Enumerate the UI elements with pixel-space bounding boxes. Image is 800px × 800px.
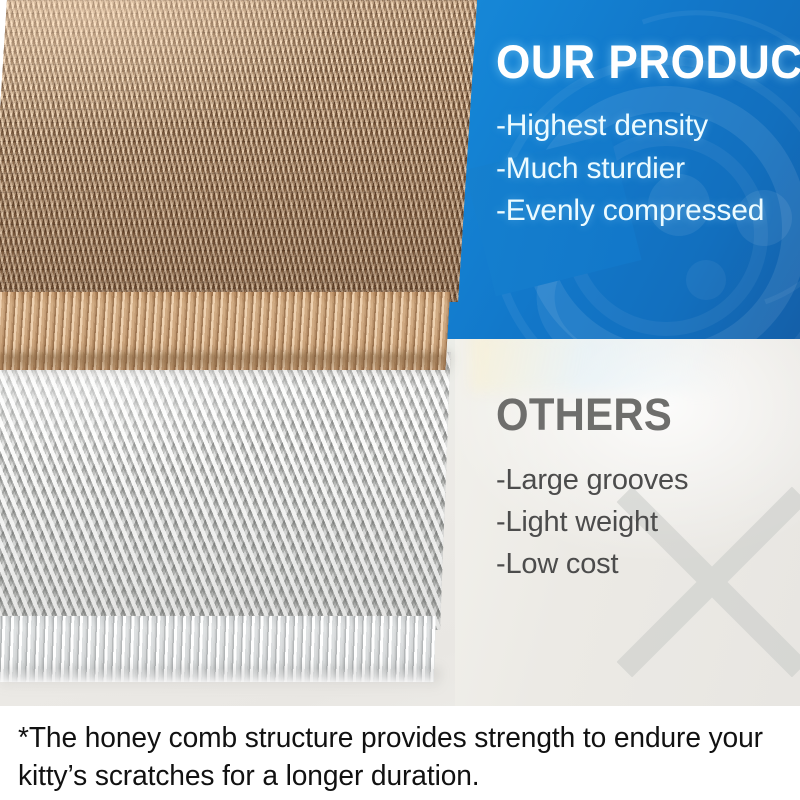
tan-slab-contact-shadow	[0, 352, 450, 378]
prism-light-streak	[470, 332, 800, 392]
tan-face-shading	[0, 0, 478, 302]
our-product-heading: OUR PRODUCT	[496, 38, 778, 85]
our-product-feature-list: -Highest density -Much sturdier -Evenly …	[496, 105, 796, 233]
others-heading: OTHERS	[496, 392, 775, 437]
our-product-feature-item: -Much sturdier	[496, 148, 796, 191]
caption-text: *The honey comb structure provides stren…	[18, 720, 763, 795]
gray-face-shading	[0, 352, 451, 630]
comparison-infographic: OUR PRODUCT -Highest density -Much sturd…	[0, 0, 800, 800]
our-product-text-block: OUR PRODUCT -Highest density -Much sturd…	[496, 38, 796, 233]
others-feature-item: -Light weight	[496, 501, 796, 543]
watermark-dot-three	[686, 260, 726, 300]
our-product-feature-item: -Highest density	[496, 105, 796, 148]
others-feature-item: -Large grooves	[496, 459, 796, 501]
product-comparison-photo: OUR PRODUCT -Highest density -Much sturd…	[0, 0, 800, 706]
others-text-block: OTHERS -Large grooves -Light weight -Low…	[496, 392, 796, 585]
others-feature-list: -Large grooves -Light weight -Low cost	[496, 459, 796, 585]
our-product-feature-item: -Evenly compressed	[496, 190, 796, 233]
footnote-caption: *The honey comb structure provides stren…	[0, 706, 800, 800]
others-feature-item: -Low cost	[496, 543, 796, 585]
gray-slab-contact-shadow	[0, 668, 440, 690]
tan-honeycomb-top-face	[0, 0, 478, 302]
gray-honeycomb-top-face	[0, 352, 451, 630]
